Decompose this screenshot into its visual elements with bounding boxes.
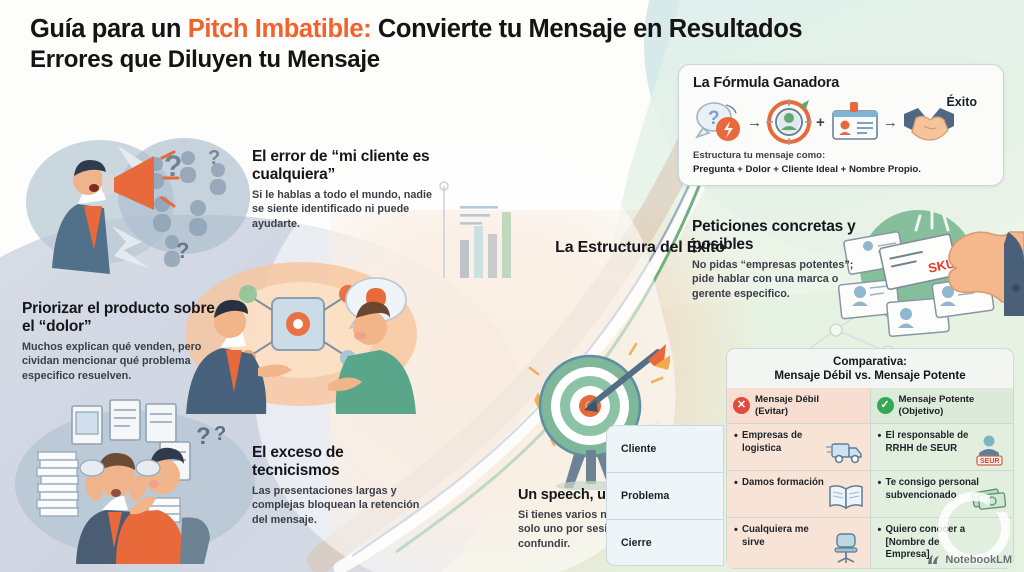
title-part-1: Guía para un [30,15,188,43]
formula-caption-line-2: Pregunta + Dolor + Cliente Ideal + Nombr… [693,164,921,175]
producto-heading: Priorizar el producto sobre el “dolor” [22,300,222,336]
formula-caption-line-1: Estructura tu mensaje como: [693,150,989,162]
cliente-heading: El error de “mi cliente es cualquiera” [252,148,438,184]
text-block-tecnicismos: El exceso de tecnicismos Las presentacio… [252,444,432,527]
table-row: Empresas de logistica El responsable de … [726,424,1014,471]
svg-text:?: ? [208,147,220,169]
office-chair-icon [826,532,866,564]
row-label-cierre: Cierre [606,519,724,566]
cell-weak-cierre-text: Cualquiera me sirve [734,524,828,561]
infographic-canvas: Guía para un Pitch Imbatible: Convierte … [0,0,1024,572]
page-subtitle: Errores que Diluyen tu Mensaje [30,46,1000,75]
peticiones-heading: Peticiones concretas y posibles [692,218,864,254]
row-label-problema: Problema [606,472,724,519]
svg-text:SEUR: SEUR [980,458,999,465]
col-weak-label: Mensaje Débil (Evitar) [755,394,819,417]
col-weak-line-1: Mensaje Débil [755,394,819,405]
comparison-title: Comparativa: Mensaje Débil vs. Mensaje P… [726,348,1014,388]
target-person-icon [766,99,812,145]
text-block-peticiones: Peticiones concretas y posibles No pidas… [692,218,864,301]
col-weak-line-2: (Evitar) [755,406,788,417]
cell-weak-cliente-text: Empresas de logistica [734,430,828,464]
bar-chart-motif [432,178,552,288]
question-bubble-icon: ? [693,98,743,146]
col-strong-line-2: (Objetivo) [899,406,944,417]
text-block-cliente: El error de “mi cliente es cualquiera” S… [252,148,438,231]
cell-strong-cliente-text: El responsable de RRHH de SEUR [878,430,982,464]
delivery-truck-icon [826,434,866,466]
comparison-title-line-2: Mensaje Débil vs. Mensaje Potente [733,369,1007,383]
cliente-body: Si le hablas a todo el mundo, nadie se s… [252,188,438,231]
check-circle-icon: ✓ [877,397,894,414]
formula-arrow-1: → [747,114,762,131]
comparison-title-line-1: Comparativa: [733,355,1007,369]
producto-body: Muchos explican qué venden, pero cividan… [22,340,222,383]
peticiones-body: No pidas “empresas potentes”; pide habla… [692,258,864,301]
page-title: Guía para un Pitch Imbatible: Convierte … [30,14,1000,44]
cell-weak-problema-text: Damos formación [734,477,824,511]
comparison-header-row: ✕ Mensaje Débil (Evitar) ✓ Mensaje Poten… [726,388,1014,424]
comparison-row-labels: Cliente Problema Cierre [606,425,724,566]
id-card-icon [829,101,879,143]
cell-weak-problema: Damos formación [727,471,870,517]
text-block-producto: Priorizar el producto sobre el “dolor” M… [22,300,222,383]
svg-text:?: ? [214,423,226,445]
comparison-col-weak: ✕ Mensaje Débil (Evitar) [727,388,870,423]
page-header: Guía para un Pitch Imbatible: Convierte … [30,14,1000,75]
col-strong-line-1: Mensaje Potente [899,394,975,405]
title-accent: Pitch Imbatible: [188,15,371,43]
row-label-cliente: Cliente [606,425,724,472]
tecnicismos-heading: El exceso de tecnicismos [252,444,432,480]
cell-strong-cliente: El responsable de RRHH de SEUR SEUR [870,424,1014,470]
formula-arrow-2: → [883,114,898,131]
formula-icon-row: ? → + [693,96,989,148]
watermark-label: NotebookLM [945,554,1012,566]
comparison-col-strong: ✓ Mensaje Potente (Objetivo) [870,388,1014,423]
formula-card-title: La Fórmula Ganadora [693,75,989,91]
watermark: NotebookLM [927,554,1012,566]
cell-weak-cierre: Cualquiera me sirve [727,518,870,567]
open-book-icon [826,481,866,513]
cell-weak-cliente: Empresas de logistica [727,424,870,470]
person-badge-icon: SEUR [969,434,1009,466]
formula-plus: + [816,114,825,131]
svg-text:?: ? [196,423,211,450]
notebooklm-icon [927,554,940,566]
formula-success-label: Éxito [946,95,977,109]
title-part-2: Convierte tu Mensaje en Resultados [371,15,802,43]
x-circle-icon: ✕ [733,397,750,414]
stressed-man-papers-illustration: ? ? [10,398,260,564]
formula-card: La Fórmula Ganadora Éxito ? → [678,64,1004,186]
tecnicismos-body: Las presentaciones largas y complejas bl… [252,484,432,527]
col-strong-label: Mensaje Potente (Objetivo) [899,394,975,417]
